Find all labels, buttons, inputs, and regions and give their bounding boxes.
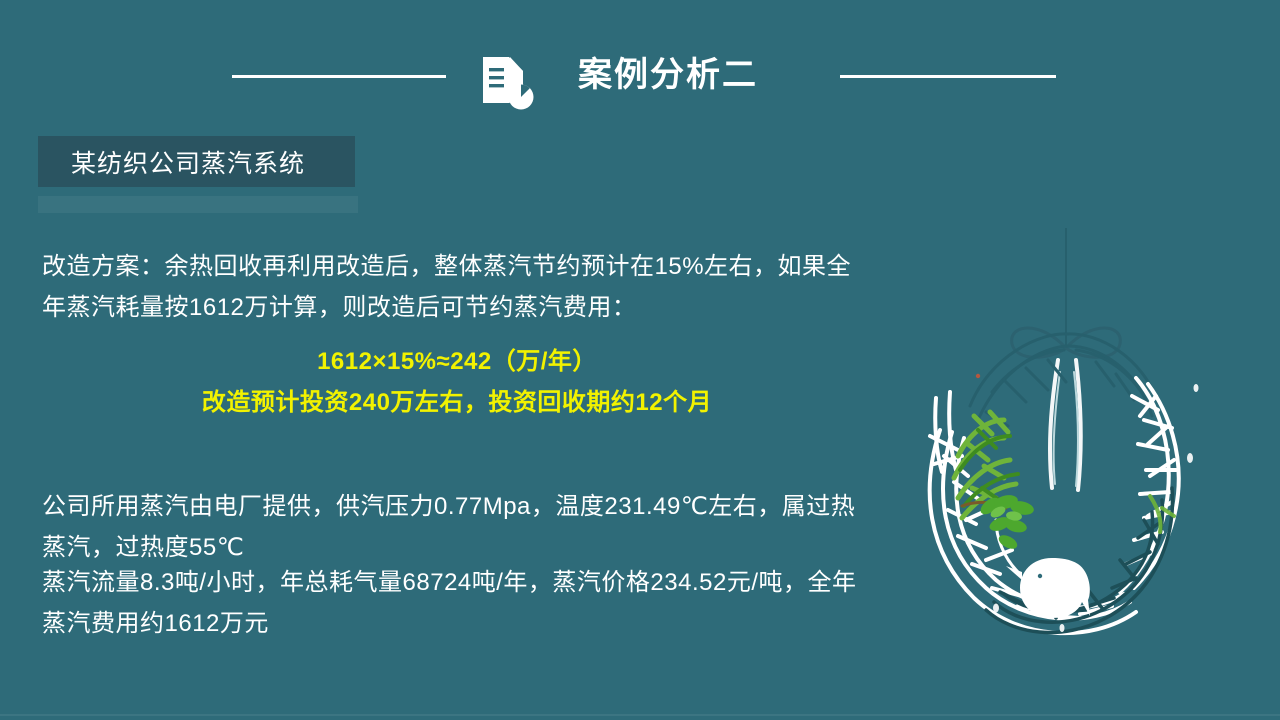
highlight-line-2: 改造预计投资240万左右，投资回收期约12个月	[42, 382, 872, 423]
header-rule-left-icon	[232, 75, 446, 78]
detail-paragraph-2: 蒸汽流量8.3吨/小时，年总耗气量68724吨/年，蒸汽价格234.52元/吨，…	[42, 562, 872, 644]
highlight-callout: 1612×15%≈242（万/年） 改造预计投资240万左右，投资回收期约12个…	[42, 341, 872, 423]
document-chart-icon	[477, 53, 535, 111]
highlight-line-1: 1612×15%≈242（万/年）	[42, 341, 872, 382]
section-heading-box: 某纺织公司蒸汽系统	[38, 136, 355, 187]
section-heading-label: 某纺织公司蒸汽系统	[71, 144, 305, 180]
bird-wreath-illustration	[900, 220, 1240, 660]
slide-canvas: 案例分析二 某纺织公司蒸汽系统 改造方案：余热回收再利用改造后，整体蒸汽节约预计…	[0, 0, 1280, 720]
detail-paragraph-1: 公司所用蒸汽由电厂提供，供汽压力0.77Mpa，温度231.49℃左右，属过热蒸…	[42, 486, 872, 568]
header-rule-right-icon	[840, 75, 1056, 78]
bird-icon	[1006, 558, 1090, 618]
intro-paragraph: 改造方案：余热回收再利用改造后，整体蒸汽节约预计在15%左右，如果全年蒸汽耗量按…	[42, 246, 872, 328]
slide-header: 案例分析二	[0, 0, 1280, 140]
section-accent-bar	[38, 196, 358, 213]
page-title: 案例分析二	[578, 52, 758, 98]
bottom-divider	[0, 714, 1280, 716]
